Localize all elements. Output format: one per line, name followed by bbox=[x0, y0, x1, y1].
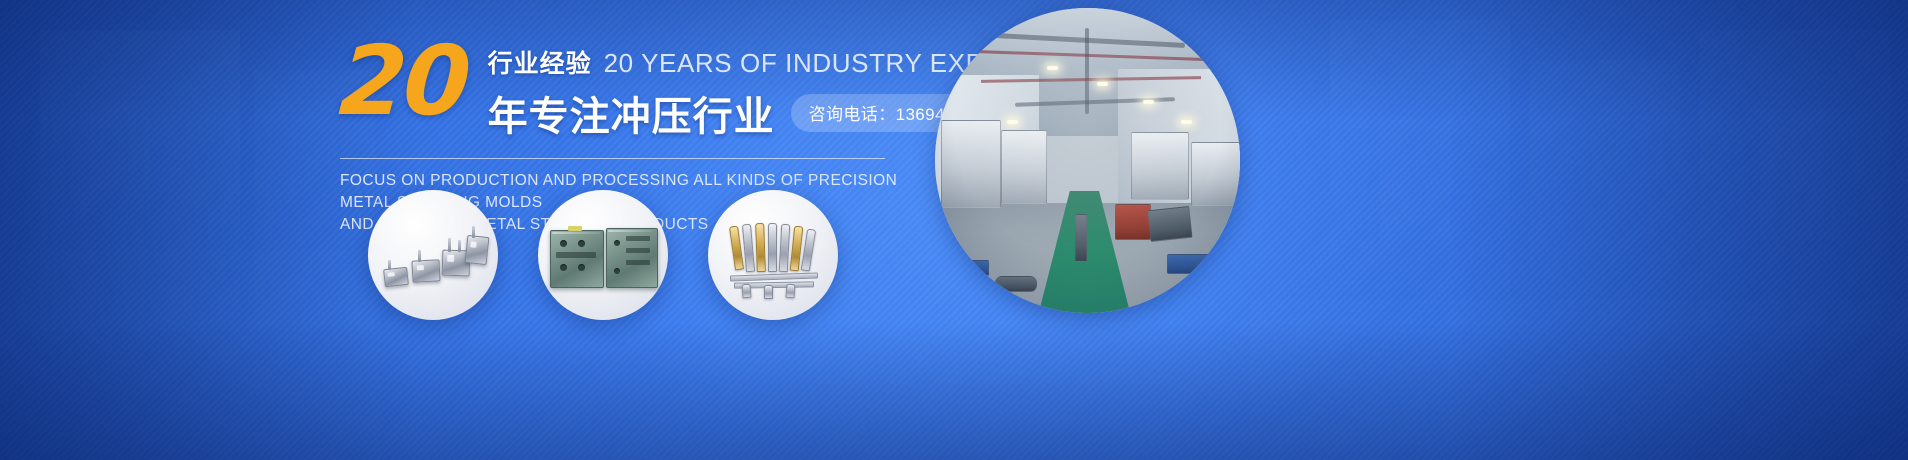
headline-cn-small: 行业经验 bbox=[488, 44, 592, 80]
connector-pin bbox=[458, 240, 461, 252]
divider-rule bbox=[340, 158, 885, 159]
terminal-pin bbox=[801, 229, 816, 272]
connectors-illustration bbox=[368, 190, 498, 320]
factory-photo-circle bbox=[935, 8, 1240, 313]
connector-pin bbox=[388, 260, 391, 270]
connector-pin bbox=[418, 250, 421, 262]
connector-shell bbox=[411, 259, 440, 282]
product-circle-terminals bbox=[708, 190, 838, 320]
terminal-pin bbox=[755, 223, 766, 272]
connector-pin bbox=[472, 226, 475, 238]
mold-slot bbox=[626, 260, 650, 265]
mold-illustration bbox=[538, 190, 668, 320]
mold-marker-tag bbox=[568, 226, 582, 231]
mold-hole bbox=[578, 240, 585, 247]
mold-ridge bbox=[608, 230, 652, 232]
hero-banner: 20 行业经验 20 YEARS OF INDUSTRY EXPERIENCE … bbox=[0, 0, 1908, 460]
terminal-carrier-strip bbox=[730, 272, 818, 281]
terminal-pin bbox=[764, 285, 773, 299]
mold-slot bbox=[556, 252, 596, 258]
factory-photo bbox=[935, 8, 1240, 313]
terminal-pin bbox=[779, 224, 790, 272]
product-circle-mold bbox=[538, 190, 668, 320]
terminal-pin bbox=[742, 224, 755, 273]
terminals-illustration bbox=[708, 190, 838, 320]
mold-block-left bbox=[550, 230, 604, 288]
connector-pin bbox=[448, 238, 451, 252]
terminal-pin bbox=[742, 284, 752, 299]
terminal-pin bbox=[768, 223, 777, 272]
photo-shading-overlay bbox=[935, 8, 1240, 313]
connector-shell bbox=[465, 235, 490, 265]
connector-shell bbox=[383, 267, 409, 287]
product-circle-connectors bbox=[368, 190, 498, 320]
mold-slot bbox=[626, 248, 650, 253]
years-number: 20 bbox=[337, 42, 470, 121]
mold-hole bbox=[560, 264, 567, 271]
mold-ridge bbox=[552, 232, 600, 234]
headline-row: 20 行业经验 20 YEARS OF INDUSTRY EXPERIENCE … bbox=[340, 38, 900, 142]
mold-hole bbox=[614, 268, 620, 274]
mold-hole bbox=[614, 240, 620, 246]
headline-cn-big: 年专注冲压行业 bbox=[488, 84, 775, 142]
mold-slot bbox=[626, 236, 650, 241]
terminal-pin bbox=[786, 284, 796, 299]
mold-hole bbox=[578, 264, 585, 271]
mold-hole bbox=[560, 240, 567, 247]
